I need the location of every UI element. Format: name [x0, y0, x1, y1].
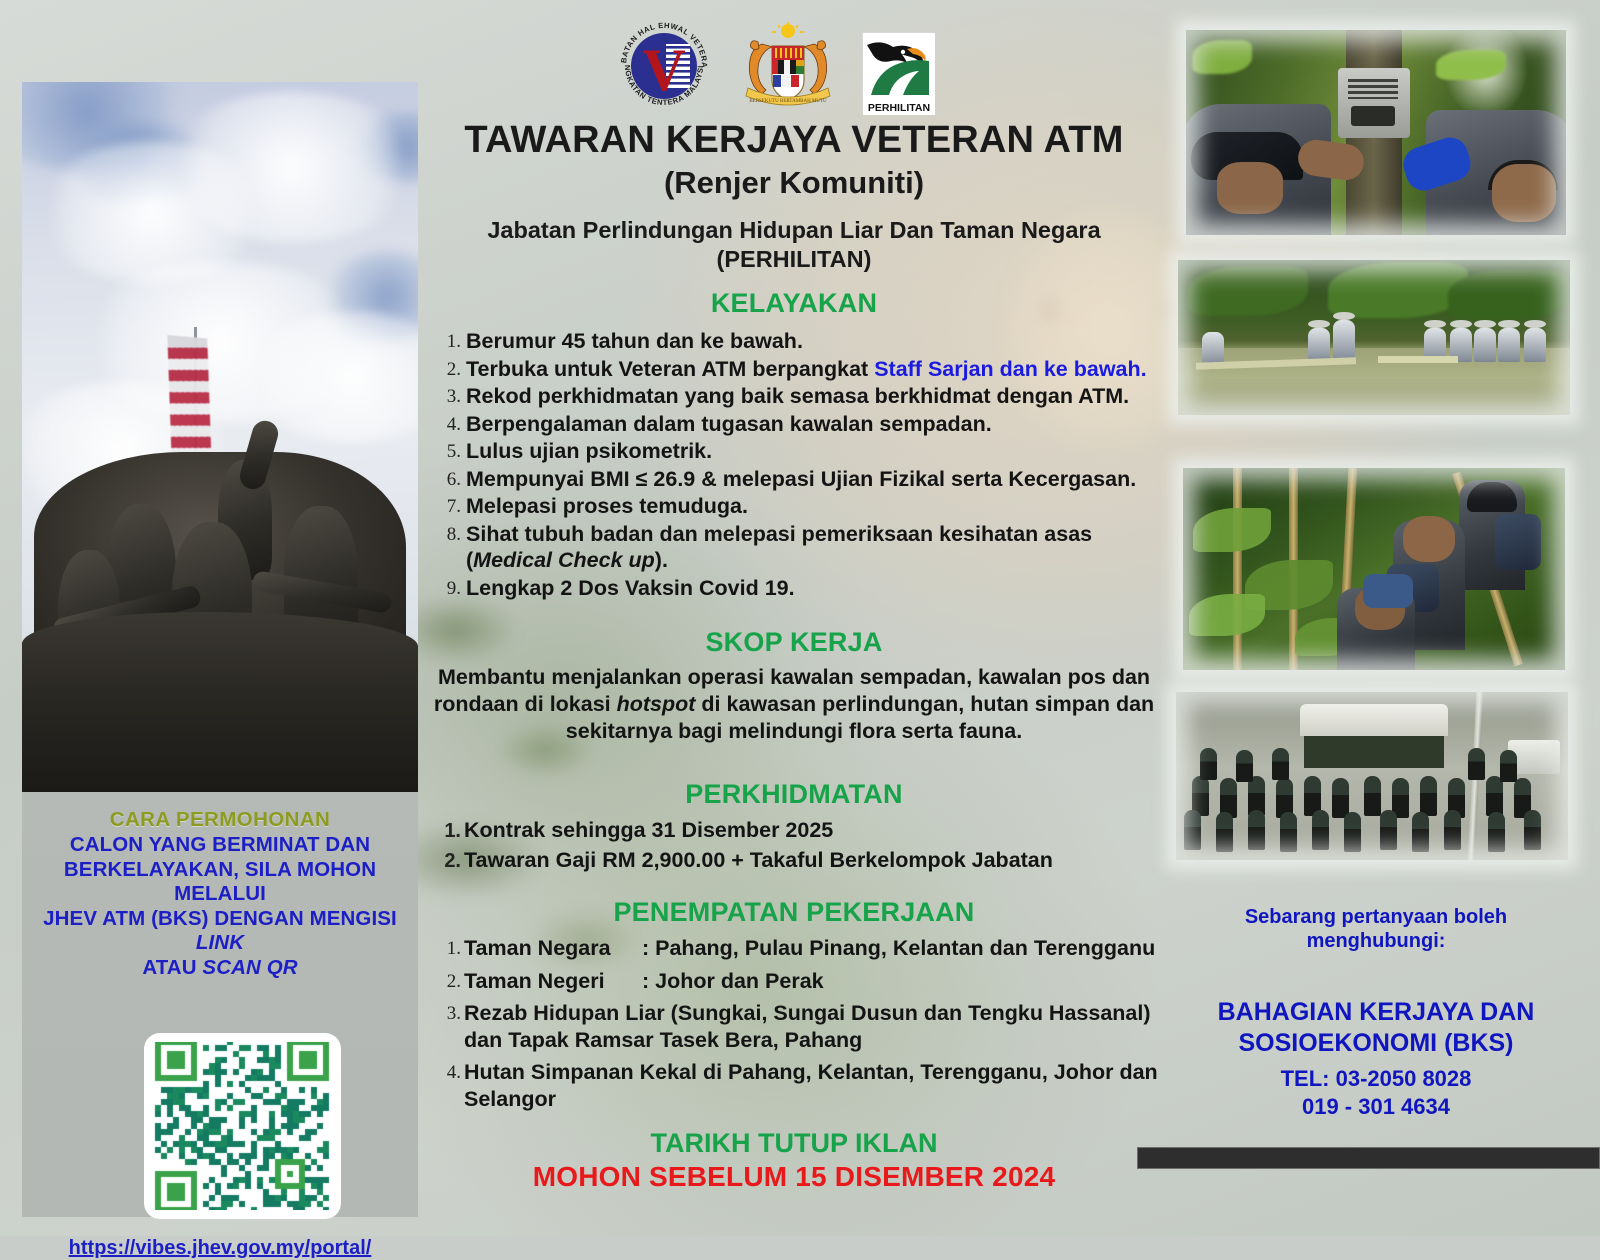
department-line-2: (PERHILITAN): [424, 245, 1164, 274]
closing-date: MOHON SEBELUM 15 DISEMBER 2024: [424, 1161, 1164, 1193]
skop-kerja-body: Membantu menjalankan operasi kawalan sem…: [424, 664, 1164, 745]
jata-negara-logo: BERSEKUTU BERTAMBAH MUTU: [732, 22, 844, 114]
list-item: 8.Sihat tubuh badan dan melepasi pemerik…: [424, 521, 1164, 574]
contact-lead: Sebarang pertanyaan boleh menghubungi:: [1176, 905, 1576, 953]
section-heading-kelayakan: KELAYAKAN: [424, 288, 1164, 319]
apply-line-3: JHEV ATM (BKS) DENGAN MENGISI LINK: [30, 907, 410, 956]
list-item: 4.Berpengalaman dalam tugasan kawalan se…: [424, 411, 1164, 438]
bottom-divider-bar: [1137, 1147, 1600, 1169]
qr-code[interactable]: [144, 1033, 341, 1219]
contact-block: Sebarang pertanyaan boleh menghubungi: B…: [1176, 905, 1576, 1121]
contact-tel-1: TEL: 03-2050 8028: [1176, 1065, 1576, 1093]
list-item: 1. Taman Negara: Pahang, Pulau Pinang, K…: [424, 935, 1164, 962]
list-item: 1.Kontrak sehingga 31 Disember 2025: [424, 816, 1164, 845]
photo-tugu-negara: [22, 82, 418, 792]
closing-heading: TARIKH TUTUP IKLAN: [424, 1128, 1164, 1159]
list-item: 3.Rekod perkhidmatan yang baik semasa be…: [424, 383, 1164, 410]
apply-instructions-block: CARA PERMOHONAN CALON YANG BERMINAT DAN …: [22, 798, 418, 980]
portal-url-link[interactable]: https://vibes.jhev.gov.my/portal/: [22, 1237, 418, 1260]
photo-jungle-patrol: [1183, 468, 1565, 670]
svg-text:PERHILITAN: PERHILITAN: [868, 102, 930, 114]
jhev-logo: V JABATAN HAL EHWAL VETERAN ANGKATAN TEN…: [614, 14, 714, 114]
page-title: TAWARAN KERJAYA VETERAN ATM: [424, 118, 1164, 162]
contact-lead-line-2: menghubungi:: [1176, 929, 1576, 953]
contact-lead-line-1: Sebarang pertanyaan boleh: [1176, 905, 1576, 929]
list-item: 6.Mempunyai BMI ≤ 26.9 & melepasi Ujian …: [424, 466, 1164, 493]
apply-body: CALON YANG BERMINAT DAN BERKELAYAKAN, SI…: [30, 833, 410, 980]
apply-title: CARA PERMOHONAN: [30, 808, 410, 832]
qr-code-canvas[interactable]: [153, 1042, 332, 1210]
department-line-1: Jabatan Perlindungan Hidupan Liar Dan Ta…: [424, 216, 1164, 245]
list-item: 3.Rezab Hidupan Liar (Sungkai, Sungai Du…: [424, 1000, 1164, 1053]
photo-parade-assembly: [1176, 692, 1568, 860]
list-item: 1.Berumur 45 tahun dan ke bawah.: [424, 328, 1164, 355]
svg-text:BERSEKUTU BERTAMBAH MUTU: BERSEKUTU BERTAMBAH MUTU: [749, 99, 827, 104]
main-content: TAWARAN KERJAYA VETERAN ATM (Renjer Komu…: [424, 118, 1164, 1193]
contact-org-line-2: SOSIOEKONOMI (BKS): [1176, 1028, 1576, 1059]
department-name: Jabatan Perlindungan Hidupan Liar Dan Ta…: [424, 216, 1164, 274]
penempatan-list: 1. Taman Negara: Pahang, Pulau Pinang, K…: [424, 935, 1164, 1112]
list-item: 9.Lengkap 2 Dos Vaksin Covid 19.: [424, 575, 1164, 602]
contact-telephone: TEL: 03-2050 8028 019 - 301 4634: [1176, 1065, 1576, 1121]
kelayakan-list: 1.Berumur 45 tahun dan ke bawah. 2.Terbu…: [424, 328, 1164, 601]
list-item: 2.Terbuka untuk Veteran ATM berpangkat S…: [424, 356, 1164, 383]
logo-row: V JABATAN HAL EHWAL VETERAN ANGKATAN TEN…: [614, 14, 944, 114]
section-heading-skop-kerja: SKOP KERJA: [424, 627, 1164, 658]
left-panel: CARA PERMOHONAN CALON YANG BERMINAT DAN …: [22, 82, 418, 1217]
list-item: 7.Melepasi proses temuduga.: [424, 493, 1164, 520]
perkhidmatan-list: 1.Kontrak sehingga 31 Disember 2025 2.Ta…: [424, 816, 1164, 875]
closing-block: TARIKH TUTUP IKLAN MOHON SEBELUM 15 DISE…: [424, 1128, 1164, 1193]
list-item: 2. Taman Negeri: Johor dan Perak: [424, 968, 1164, 995]
section-heading-penempatan: PENEMPATAN PEKERJAAN: [424, 897, 1164, 928]
page-subtitle: (Renjer Komuniti): [424, 164, 1164, 202]
contact-tel-2: 019 - 301 4634: [1176, 1093, 1576, 1121]
list-item: 2.Tawaran Gaji RM 2,900.00 + Takaful Ber…: [424, 846, 1164, 875]
list-item: 5.Lulus ujian psikometrik.: [424, 438, 1164, 465]
section-heading-perkhidmatan: PERKHIDMATAN: [424, 779, 1164, 810]
list-item: 4.Hutan Simpanan Kekal di Pahang, Kelant…: [424, 1059, 1164, 1112]
photo-camera-trap-install: [1186, 30, 1566, 235]
monument-base-graphic: [22, 612, 418, 792]
apply-line-1: CALON YANG BERMINAT DAN: [30, 833, 410, 858]
contact-org-line-1: BAHAGIAN KERJAYA DAN: [1176, 997, 1576, 1028]
perhilitan-logo: PERHILITAN: [862, 32, 934, 114]
apply-line-4: ATAU SCAN QR: [30, 956, 410, 981]
apply-line-2: BERKELAYAKAN, SILA MOHON MELALUI: [30, 858, 410, 907]
photo-river-crossing: [1178, 260, 1570, 415]
svg-text:V: V: [642, 37, 685, 103]
contact-organisation: BAHAGIAN KERJAYA DAN SOSIOEKONOMI (BKS): [1176, 997, 1576, 1059]
